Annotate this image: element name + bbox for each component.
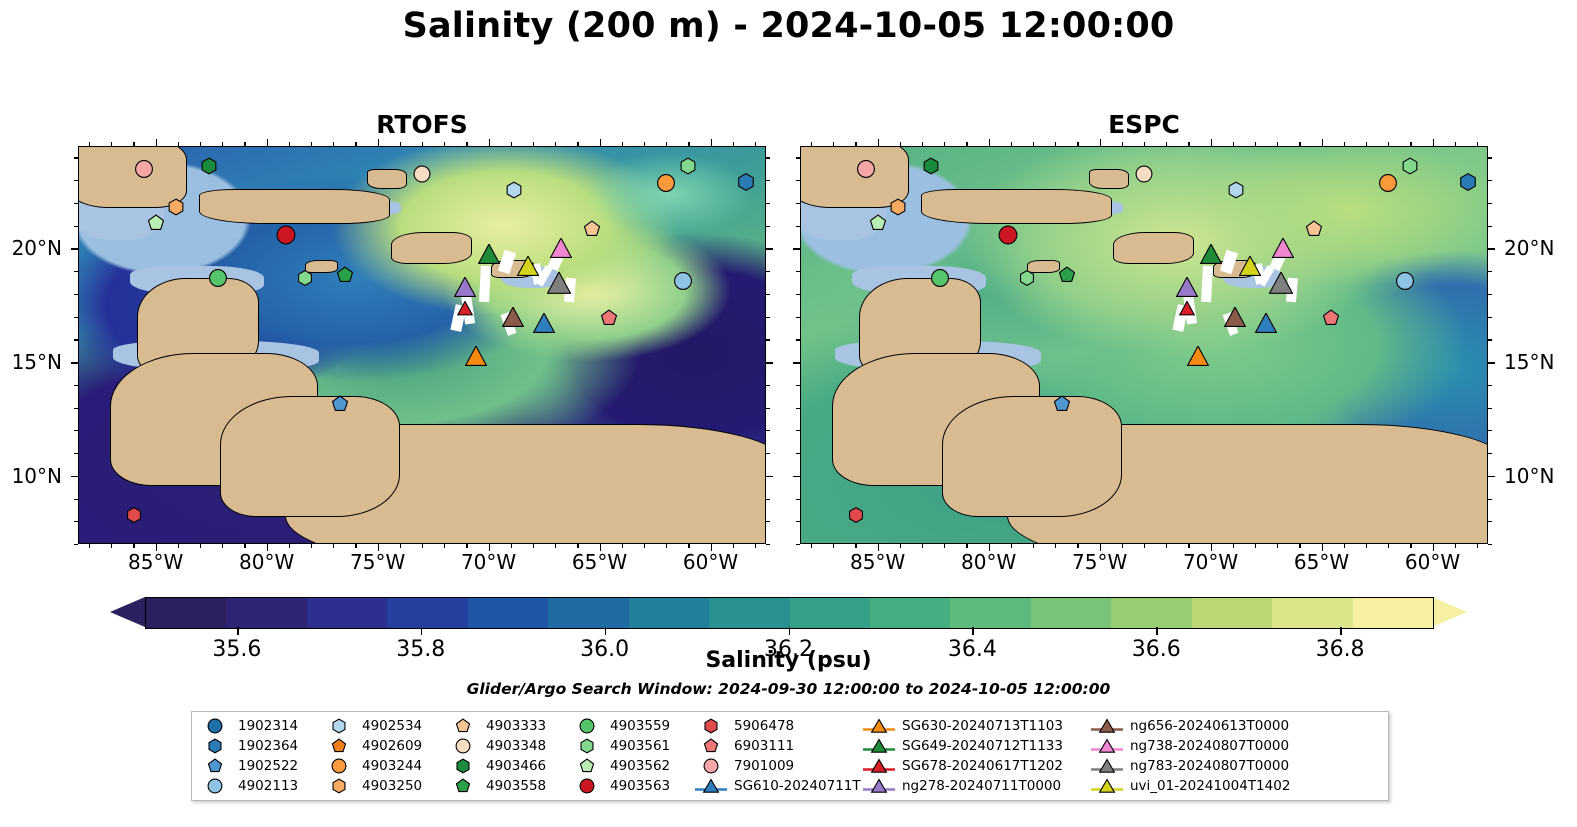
- legend-item-uvi_01-20241004T1402[interactable]: uvi_01-20241004T1402: [1090, 776, 1318, 796]
- pentagon-marker-icon: [694, 738, 728, 754]
- legend-item-label: 5906478: [734, 718, 794, 734]
- figure-title: Salinity (200 m) - 2024-10-05 12:00:00: [0, 6, 1577, 46]
- y-axis-minor-tick: [766, 499, 770, 500]
- pentagon-marker-icon: [322, 738, 356, 754]
- map-marker-4903559[interactable]: [208, 268, 227, 287]
- legend-item-SG649-20240712T1133[interactable]: SG649-20240712T1133: [862, 736, 1090, 756]
- map-marker-SG610-20240711T1133[interactable]: [533, 313, 555, 335]
- hexagon-marker-icon: [446, 758, 480, 774]
- legend-item-label: ng783-20240807T0000: [1130, 758, 1289, 774]
- x-axis-minor-tick: [311, 544, 312, 548]
- x-axis-minor-tick: [400, 544, 401, 548]
- y-axis-minor-tick: [1488, 521, 1492, 522]
- map-marker-4903562[interactable]: [147, 214, 165, 232]
- y-axis-label: 20°N: [1504, 236, 1554, 260]
- x-axis-minor-tick: [200, 544, 201, 548]
- x-axis-minor-tick: [1011, 142, 1012, 146]
- x-axis-minor-tick: [900, 142, 901, 146]
- map-canvas-rtofs[interactable]: [78, 146, 766, 544]
- x-axis-minor-tick: [644, 544, 645, 548]
- panel-title-rtofs: RTOFS: [78, 110, 766, 139]
- map-marker-7901009[interactable]: [135, 159, 154, 178]
- glider-track: [498, 249, 516, 274]
- legend-item-4903559[interactable]: 4903559: [570, 716, 694, 736]
- y-axis-tick: [766, 248, 773, 250]
- legend-item-label: uvi_01-20241004T1402: [1130, 778, 1290, 794]
- x-axis-minor-tick: [1255, 142, 1256, 146]
- x-axis-label: 70°W: [1183, 550, 1238, 574]
- search-window-note: Glider/Argo Search Window: 2024-09-30 12…: [0, 680, 1577, 698]
- triangle-marker-icon: [862, 757, 896, 775]
- triangle-marker-icon: [1090, 757, 1124, 775]
- x-axis-minor-tick: [755, 142, 756, 146]
- x-axis-minor-tick: [922, 142, 923, 146]
- circle-marker-icon: [694, 758, 728, 774]
- x-axis-label: 75°W: [1072, 550, 1127, 574]
- legend-item-label: SG630-20240713T1103: [902, 718, 1063, 734]
- x-axis-label: 65°W: [572, 550, 627, 574]
- y-axis-tick: [71, 248, 78, 250]
- y-axis-label: 15°N: [1504, 350, 1554, 374]
- map-marker-SG649-20240712T1133[interactable]: [478, 244, 500, 266]
- colorbar-segment: [387, 598, 467, 628]
- x-axis-label: 60°W: [683, 550, 738, 574]
- x-axis-minor-tick: [333, 544, 334, 548]
- x-axis-minor-tick: [1166, 544, 1167, 548]
- x-axis-label: 60°W: [1405, 550, 1460, 574]
- x-axis-minor-tick: [444, 142, 445, 146]
- y-axis-minor-tick: [766, 453, 770, 454]
- x-axis-minor-tick: [244, 142, 245, 146]
- y-axis-minor-tick: [766, 317, 770, 318]
- map-marker-6903111[interactable]: [600, 309, 618, 327]
- x-axis-minor-tick: [1233, 142, 1234, 146]
- map-marker-ng783-20240807T0000[interactable]: [1269, 272, 1293, 296]
- glider-track: [479, 266, 490, 302]
- y-axis-minor-tick: [766, 544, 770, 545]
- map-marker-ng278-20240711T0000[interactable]: [454, 277, 476, 299]
- map-marker-ng278-20240711T0000[interactable]: [1176, 277, 1198, 299]
- y-axis-minor-tick: [74, 544, 78, 545]
- y-axis-minor-tick: [766, 294, 770, 295]
- map-marker-SG678-20240617T1202[interactable]: [457, 301, 473, 317]
- legend-item-7901009[interactable]: 7901009: [694, 756, 862, 776]
- x-axis-minor-tick: [855, 142, 856, 146]
- legend-item-4902534[interactable]: 4902534: [322, 716, 446, 736]
- legend-item-4903250[interactable]: 4903250: [322, 776, 446, 796]
- legend-item-4902609[interactable]: 4902609: [322, 736, 446, 756]
- x-axis-minor-tick: [222, 544, 223, 548]
- legend-item-5906478[interactable]: 5906478: [694, 716, 862, 736]
- x-axis-minor-tick: [1144, 544, 1145, 548]
- x-axis-minor-tick: [1144, 142, 1145, 146]
- x-axis-label: 80°W: [239, 550, 294, 574]
- x-axis-minor-tick: [89, 544, 90, 548]
- y-axis-minor-tick: [74, 385, 78, 386]
- y-axis-minor-tick: [1488, 544, 1492, 545]
- x-axis-label: 85°W: [128, 550, 183, 574]
- x-axis-label: 80°W: [961, 550, 1016, 574]
- legend-item-4902113[interactable]: 4902113: [198, 776, 322, 796]
- y-axis-minor-tick: [766, 430, 770, 431]
- y-axis-minor-tick: [796, 408, 800, 409]
- triangle-marker-icon: [694, 777, 728, 795]
- legend-item-label: ng738-20240807T0000: [1130, 738, 1289, 754]
- x-axis-minor-tick: [1122, 142, 1123, 146]
- pentagon-marker-icon: [570, 758, 604, 774]
- colorbar-segment: [870, 598, 950, 628]
- map-marker-4903466[interactable]: [922, 157, 940, 175]
- map-marker-1902364[interactable]: [736, 172, 755, 191]
- x-axis-tick: [711, 139, 713, 146]
- map-marker-6903111[interactable]: [1322, 309, 1340, 327]
- y-axis-minor-tick: [766, 521, 770, 522]
- x-axis-tick: [1100, 139, 1102, 146]
- legend-item-4903563[interactable]: 4903563: [570, 776, 694, 796]
- y-axis-minor-tick: [766, 226, 770, 227]
- x-axis-minor-tick: [922, 544, 923, 548]
- y-axis-tick: [766, 362, 773, 364]
- map-marker-SG649-20240712T1133[interactable]: [1200, 244, 1222, 266]
- y-axis-minor-tick: [766, 339, 770, 340]
- map-marker-4903563[interactable]: [998, 225, 1018, 245]
- triangle-marker-icon: [1090, 717, 1124, 735]
- map-marker-4902534[interactable]: [1227, 181, 1245, 199]
- x-axis-label: 70°W: [461, 550, 516, 574]
- x-axis-minor-tick: [688, 142, 689, 146]
- map-marker-4903250[interactable]: [889, 198, 907, 216]
- x-axis-minor-tick: [200, 142, 201, 146]
- colorbar: 35.635.836.036.236.436.636.8: [110, 597, 1467, 627]
- y-axis-minor-tick: [796, 180, 800, 181]
- x-axis-label: 65°W: [1294, 550, 1349, 574]
- map-marker-4902113[interactable]: [1395, 271, 1414, 290]
- map-marker-ng738-20240807T0000[interactable]: [1272, 238, 1294, 260]
- y-axis-minor-tick: [796, 157, 800, 158]
- y-axis-minor-tick: [74, 317, 78, 318]
- colorbar-segment: [950, 598, 1030, 628]
- x-axis-minor-tick: [533, 544, 534, 548]
- y-axis-tick: [793, 476, 800, 478]
- hexagon-marker-icon: [198, 738, 232, 754]
- x-axis-minor-tick: [311, 142, 312, 146]
- colorbar-extend-low: [110, 597, 145, 627]
- x-axis-minor-tick: [1233, 544, 1234, 548]
- x-axis-tick: [1433, 139, 1435, 146]
- y-axis-minor-tick: [796, 499, 800, 500]
- legend-item-label: 1902314: [238, 718, 298, 734]
- legend-item-4903558[interactable]: 4903558: [446, 776, 570, 796]
- triangle-marker-icon: [1090, 777, 1124, 795]
- legend-item-SG610-20240711T1133[interactable]: SG610-20240711T1133: [694, 776, 862, 796]
- legend-item-label: 1902522: [238, 758, 298, 774]
- y-axis-minor-tick: [74, 203, 78, 204]
- x-axis-minor-tick: [944, 142, 945, 146]
- x-axis-minor-tick: [1277, 142, 1278, 146]
- legend-item-4903466[interactable]: 4903466: [446, 756, 570, 776]
- hexagon-marker-icon: [570, 738, 604, 754]
- map-marker-ng656-20240613T0000[interactable]: [502, 307, 524, 329]
- map-marker-4903561[interactable]: [1401, 157, 1419, 175]
- x-axis-minor-tick: [1455, 544, 1456, 548]
- map-marker-4903563[interactable]: [276, 225, 296, 245]
- legend-item-label: ng656-20240613T0000: [1130, 718, 1289, 734]
- x-axis-minor-tick: [944, 544, 945, 548]
- y-axis-minor-tick: [1488, 203, 1492, 204]
- x-axis-minor-tick: [422, 142, 423, 146]
- triangle-marker-icon: [1090, 737, 1124, 755]
- x-axis-minor-tick: [666, 142, 667, 146]
- legend-item-label: 4902113: [238, 778, 298, 794]
- legend-item-6903111[interactable]: 6903111: [694, 736, 862, 756]
- map-marker-SG630-20240713T1103[interactable]: [1187, 346, 1209, 368]
- y-axis-minor-tick: [1488, 408, 1492, 409]
- map-marker-4903561b[interactable]: [297, 269, 314, 286]
- y-axis-minor-tick: [766, 203, 770, 204]
- y-axis-minor-tick: [74, 339, 78, 340]
- colorbar-label: Salinity (psu): [0, 648, 1577, 673]
- hexagon-marker-icon: [322, 718, 356, 734]
- legend-item-ng783-20240807T0000[interactable]: ng783-20240807T0000: [1090, 756, 1318, 776]
- y-axis-minor-tick: [796, 317, 800, 318]
- x-axis-minor-tick: [1388, 544, 1389, 548]
- x-axis-tick: [267, 139, 269, 146]
- y-axis-minor-tick: [796, 544, 800, 545]
- x-axis-minor-tick: [966, 142, 967, 146]
- y-axis-minor-tick: [74, 180, 78, 181]
- map-marker-1902522[interactable]: [331, 395, 349, 413]
- x-axis-minor-tick: [422, 544, 423, 548]
- colorbar-segment: [1111, 598, 1191, 628]
- map-marker-4903348[interactable]: [1135, 165, 1153, 183]
- legend-item-label: 4903348: [486, 738, 546, 754]
- map-marker-ng656-20240613T0000[interactable]: [1224, 307, 1246, 329]
- x-axis-tick: [1322, 139, 1324, 146]
- x-axis-minor-tick: [1077, 544, 1078, 548]
- legend[interactable]: 1902314 4902534 4903333 4903559 5906478 …: [191, 711, 1389, 801]
- x-axis-minor-tick: [577, 544, 578, 548]
- x-axis-minor-tick: [855, 544, 856, 548]
- y-axis-minor-tick: [1488, 157, 1492, 158]
- x-axis-minor-tick: [1077, 142, 1078, 146]
- map-marker-7901009[interactable]: [857, 159, 876, 178]
- map-panel-rtofs[interactable]: RTOFS 85°W80°W75°W70°W65°W60°W10°N15°N20…: [78, 146, 766, 544]
- y-axis-minor-tick: [1488, 453, 1492, 454]
- x-axis-minor-tick: [244, 544, 245, 548]
- colorbar-tick: [1340, 627, 1342, 635]
- map-marker-1902364[interactable]: [1458, 172, 1477, 191]
- y-axis-minor-tick: [1488, 226, 1492, 227]
- map-marker-4903561[interactable]: [679, 157, 697, 175]
- x-axis-minor-tick: [755, 544, 756, 548]
- legend-item-label: 4903563: [610, 778, 670, 794]
- x-axis-minor-tick: [1011, 544, 1012, 548]
- legend-item-ng738-20240807T0000[interactable]: ng738-20240807T0000: [1090, 736, 1318, 756]
- panel-title-espc: ESPC: [800, 110, 1488, 139]
- legend-item-label: 4903562: [610, 758, 670, 774]
- x-axis-tick: [489, 139, 491, 146]
- legend-item-label: 4903466: [486, 758, 546, 774]
- map-marker-4903333[interactable]: [1305, 220, 1323, 238]
- x-axis-minor-tick: [900, 544, 901, 548]
- colorbar-extend-high: [1432, 597, 1467, 627]
- pentagon-marker-icon: [198, 758, 232, 774]
- triangle-marker-icon: [862, 717, 896, 735]
- legend-item-1902314[interactable]: 1902314: [198, 716, 322, 736]
- map-marker-4903558[interactable]: [336, 266, 354, 284]
- y-axis-minor-tick: [796, 385, 800, 386]
- y-axis-tick: [1488, 476, 1495, 478]
- y-axis-minor-tick: [796, 226, 800, 227]
- map-marker-SG610-20240711T1133[interactable]: [1255, 313, 1277, 335]
- y-axis-tick: [793, 362, 800, 364]
- map-marker-ng783-20240807T0000[interactable]: [547, 272, 571, 296]
- x-axis-minor-tick: [1477, 142, 1478, 146]
- x-axis-minor-tick: [178, 544, 179, 548]
- x-axis-minor-tick: [811, 142, 812, 146]
- x-axis-minor-tick: [1477, 544, 1478, 548]
- y-axis-label: 15°N: [12, 350, 62, 374]
- map-marker-4902113[interactable]: [673, 271, 692, 290]
- x-axis-tick: [878, 139, 880, 146]
- legend-item-SG678-20240617T1202[interactable]: SG678-20240617T1202: [862, 756, 1090, 776]
- x-axis-minor-tick: [833, 544, 834, 548]
- y-axis-label: 10°N: [12, 464, 62, 488]
- legend-item-label: 4902609: [362, 738, 422, 754]
- legend-item-4903561[interactable]: 4903561: [570, 736, 694, 756]
- map-marker-5906478[interactable]: [847, 507, 864, 524]
- x-axis-minor-tick: [511, 544, 512, 548]
- legend-item-4903348[interactable]: 4903348: [446, 736, 570, 756]
- legend-item-label: SG649-20240712T1133: [902, 738, 1063, 754]
- map-marker-4903333[interactable]: [583, 220, 601, 238]
- map-canvas-espc[interactable]: [800, 146, 1488, 544]
- legend-item-label: 4903333: [486, 718, 546, 734]
- y-axis-minor-tick: [1488, 385, 1492, 386]
- legend-item-1902522[interactable]: 1902522: [198, 756, 322, 776]
- x-axis-minor-tick: [622, 142, 623, 146]
- legend-item-SG630-20240713T1103[interactable]: SG630-20240713T1103: [862, 716, 1090, 736]
- x-axis-minor-tick: [1122, 544, 1123, 548]
- x-axis-minor-tick: [355, 142, 356, 146]
- map-marker-4903244[interactable]: [656, 174, 675, 193]
- x-axis-minor-tick: [1255, 544, 1256, 548]
- map-marker-uvi_01-20241004T1402[interactable]: [517, 256, 539, 278]
- x-axis-minor-tick: [1033, 142, 1034, 146]
- y-axis-minor-tick: [74, 226, 78, 227]
- map-marker-4902534[interactable]: [505, 181, 523, 199]
- x-axis-minor-tick: [1299, 544, 1300, 548]
- map-marker-SG678-20240617T1202[interactable]: [1179, 301, 1195, 317]
- circle-marker-icon: [198, 718, 232, 734]
- x-axis-minor-tick: [89, 142, 90, 146]
- x-axis-minor-tick: [1188, 544, 1189, 548]
- map-panel-espc[interactable]: ESPC 85°W80°W75°W70°W65°W60°W10°N15°N20°…: [800, 146, 1488, 544]
- legend-item-1902364[interactable]: 1902364: [198, 736, 322, 756]
- x-axis-minor-tick: [1299, 142, 1300, 146]
- x-axis-minor-tick: [400, 142, 401, 146]
- y-axis-minor-tick: [796, 430, 800, 431]
- map-marker-ng738-20240807T0000[interactable]: [550, 238, 572, 260]
- colorbar-tick: [605, 627, 607, 635]
- x-axis-minor-tick: [1366, 142, 1367, 146]
- x-axis-minor-tick: [289, 544, 290, 548]
- y-axis-minor-tick: [766, 385, 770, 386]
- y-axis-minor-tick: [74, 157, 78, 158]
- x-axis-minor-tick: [1410, 544, 1411, 548]
- y-axis-minor-tick: [766, 157, 770, 158]
- map-marker-4903348[interactable]: [413, 165, 431, 183]
- x-axis-minor-tick: [1344, 544, 1345, 548]
- x-axis-tick: [378, 139, 380, 146]
- y-axis-tick: [71, 362, 78, 364]
- x-axis-minor-tick: [333, 142, 334, 146]
- x-axis-minor-tick: [1366, 544, 1367, 548]
- x-axis-minor-tick: [555, 544, 556, 548]
- legend-item-ng278-20240711T0000[interactable]: ng278-20240711T0000: [862, 776, 1090, 796]
- map-marker-4903244[interactable]: [1378, 174, 1397, 193]
- x-axis-tick: [600, 139, 602, 146]
- colorbar-gradient: [145, 597, 1434, 629]
- y-axis-minor-tick: [1488, 499, 1492, 500]
- y-axis-minor-tick: [1488, 294, 1492, 295]
- map-marker-4903466[interactable]: [200, 157, 218, 175]
- legend-item-label: 6903111: [734, 738, 794, 754]
- colorbar-segment: [468, 598, 548, 628]
- legend-item-label: 4903250: [362, 778, 422, 794]
- legend-item-4903562[interactable]: 4903562: [570, 756, 694, 776]
- x-axis-minor-tick: [466, 142, 467, 146]
- x-axis-minor-tick: [1055, 544, 1056, 548]
- y-axis-tick: [1488, 362, 1495, 364]
- x-axis-minor-tick: [555, 142, 556, 146]
- x-axis-minor-tick: [1455, 142, 1456, 146]
- map-marker-4903561b[interactable]: [1019, 269, 1036, 286]
- x-axis-tick: [989, 139, 991, 146]
- triangle-marker-icon: [862, 737, 896, 755]
- legend-item-ng656-20240613T0000[interactable]: ng656-20240613T0000: [1090, 716, 1318, 736]
- y-axis-minor-tick: [1488, 180, 1492, 181]
- map-marker-4903562[interactable]: [869, 214, 887, 232]
- x-axis-label: 85°W: [850, 550, 905, 574]
- legend-item-label: 7901009: [734, 758, 794, 774]
- x-axis-minor-tick: [577, 142, 578, 146]
- y-axis-minor-tick: [74, 408, 78, 409]
- map-marker-uvi_01-20241004T1402[interactable]: [1239, 256, 1261, 278]
- map-marker-5906478[interactable]: [125, 507, 142, 524]
- x-axis-minor-tick: [1410, 142, 1411, 146]
- map-marker-4903250[interactable]: [167, 198, 185, 216]
- legend-item-4903333[interactable]: 4903333: [446, 716, 570, 736]
- y-axis-tick: [766, 476, 773, 478]
- map-marker-4903559[interactable]: [930, 268, 949, 287]
- map-marker-4903558[interactable]: [1058, 266, 1076, 284]
- x-axis-minor-tick: [644, 142, 645, 146]
- colorbar-tick: [237, 627, 239, 635]
- glider-track: [1201, 266, 1212, 302]
- pentagon-marker-icon: [446, 778, 480, 794]
- map-marker-1902522[interactable]: [1053, 395, 1071, 413]
- x-axis-minor-tick: [1277, 544, 1278, 548]
- colorbar-tick: [972, 627, 974, 635]
- y-axis-minor-tick: [1488, 430, 1492, 431]
- legend-item-4903244[interactable]: 4903244: [322, 756, 446, 776]
- x-axis-minor-tick: [833, 142, 834, 146]
- y-axis-minor-tick: [1488, 271, 1492, 272]
- map-marker-SG630-20240713T1103[interactable]: [465, 346, 487, 368]
- legend-item-label: 1902364: [238, 738, 298, 754]
- x-axis-minor-tick: [733, 142, 734, 146]
